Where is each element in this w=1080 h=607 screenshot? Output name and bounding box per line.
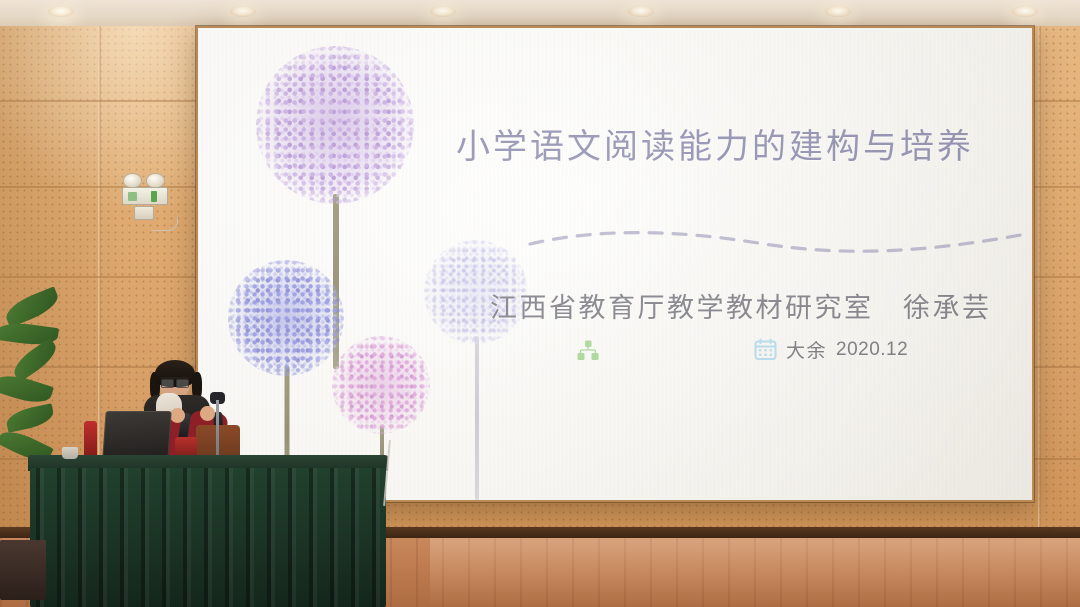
emergency-lamp-left (123, 173, 142, 188)
slide-title: 小学语文阅读能力的建构与培养 (456, 119, 976, 168)
speaker-box (0, 540, 46, 600)
org-chart-icon (576, 340, 600, 362)
ceiling-downlight (48, 6, 74, 17)
flower-puff (256, 46, 414, 204)
dandelion-pale-lavender (424, 240, 530, 500)
glasses-icon (161, 377, 189, 385)
ceiling-downlight (1012, 6, 1038, 17)
flower-puff (332, 336, 430, 434)
cable (152, 217, 178, 231)
ceiling-downlight (430, 6, 456, 17)
presenter-hand (200, 406, 215, 421)
floor-reflection (430, 538, 1080, 607)
microphone-stand (216, 400, 219, 462)
wavy-dashed-divider (528, 224, 1028, 258)
cup (62, 447, 78, 459)
ceiling-downlight (628, 6, 654, 17)
slide-date: 2020.12 (836, 339, 908, 361)
ceiling-downlight (825, 6, 851, 17)
thermos (84, 421, 97, 459)
calendar-icon (754, 338, 777, 361)
potted-plant (0, 288, 90, 473)
slide-place: 大余 (786, 336, 827, 363)
presenter-table-skirt (30, 468, 386, 607)
wall-switch-plate (134, 206, 154, 220)
emergency-light-icon (122, 173, 168, 223)
flower-stem (475, 336, 479, 500)
flower-puff (228, 260, 344, 376)
slide-meta-row: 大余 2020.12 (754, 336, 908, 363)
laptop (102, 411, 171, 459)
screenshot-root: 小学语文阅读能力的建构与培养 江西省教育厅教学教材研究室 徐承芸 (0, 0, 1080, 607)
projection-screen: 小学语文阅读能力的建构与培养 江西省教育厅教学教材研究室 徐承芸 (198, 28, 1032, 500)
emergency-light-body (122, 187, 168, 205)
presenter-hand (170, 408, 185, 423)
emergency-lamp-right (146, 173, 165, 188)
ceiling-downlight (230, 6, 256, 17)
slide-subtitle: 江西省教育厅教学教材研究室 徐承芸 (490, 286, 992, 325)
